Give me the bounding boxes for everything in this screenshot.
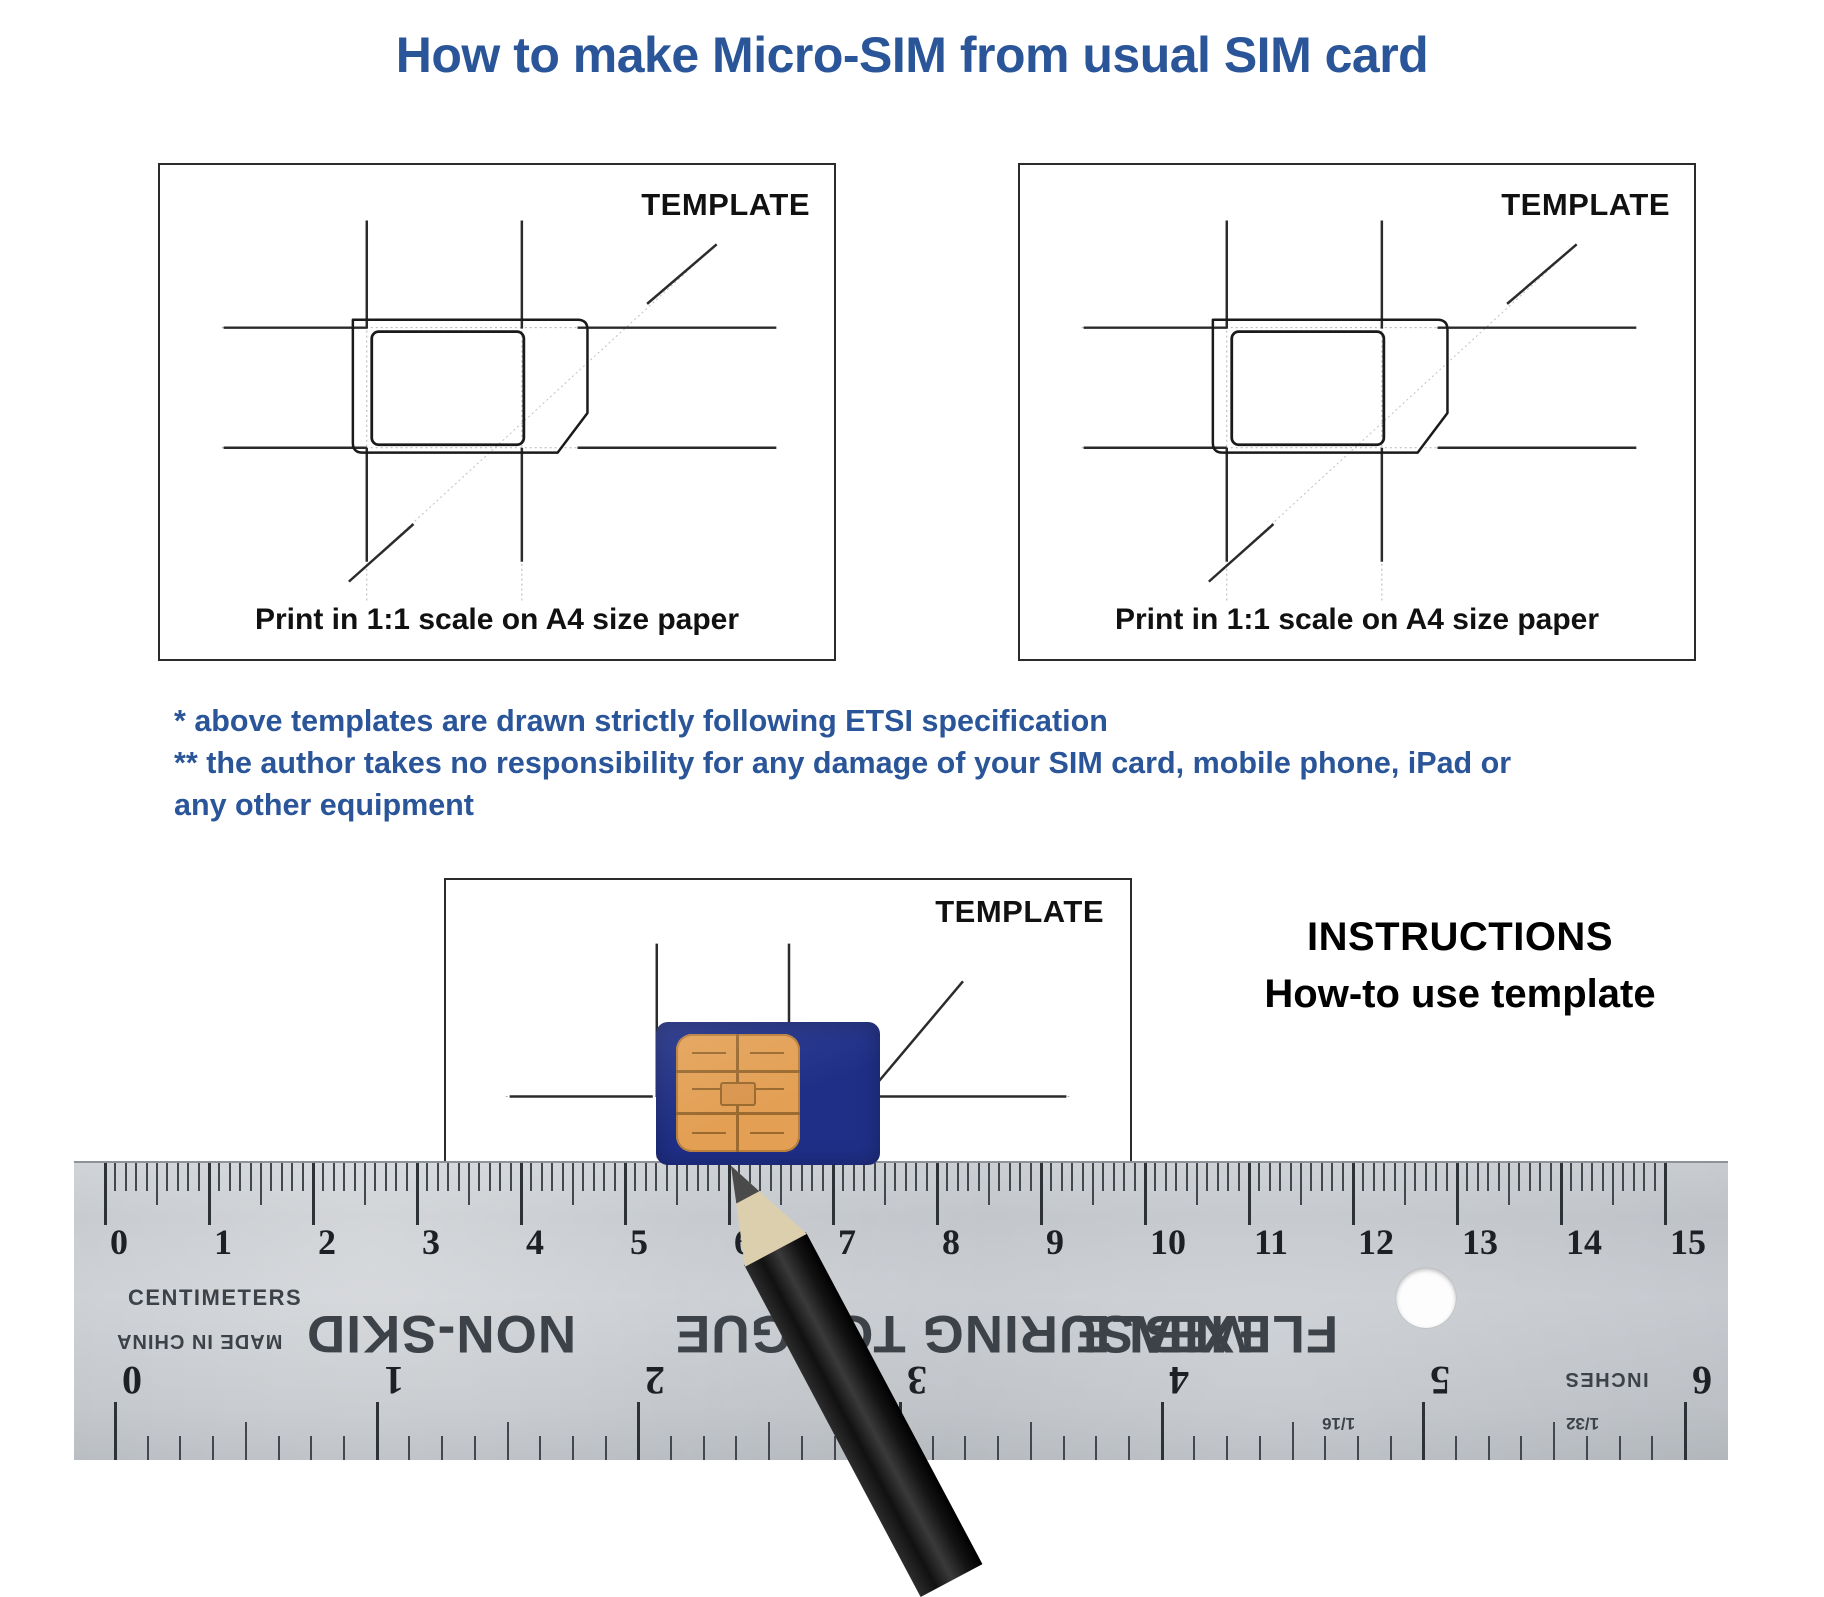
ruler-cm-tick-minor xyxy=(1279,1163,1281,1191)
template-label: TEMPLATE xyxy=(1501,187,1670,223)
ruler-inch-tick-minor xyxy=(735,1436,737,1460)
ruler-flexible-text: FLEXIBLE xyxy=(1074,1303,1338,1364)
ruler-cm-tick-minor xyxy=(1030,1163,1032,1191)
template-diagram-right xyxy=(1020,165,1694,659)
ruler-cm-tick-major xyxy=(1040,1163,1043,1225)
ruler-cm-tick-minor xyxy=(198,1163,200,1191)
ruler-inch-tick-major xyxy=(114,1402,117,1460)
ruler-cm-tick-minor xyxy=(1196,1163,1198,1205)
ruler-inch-label: 5 xyxy=(1430,1357,1450,1404)
ruler-inch-tick-minor xyxy=(474,1436,476,1460)
ruler-inch-tick-major xyxy=(376,1402,379,1460)
ruler-cm-tick-minor xyxy=(572,1163,574,1205)
template-label: TEMPLATE xyxy=(641,187,810,223)
ruler-inch-tick-minor xyxy=(703,1436,705,1460)
ruler-cm-tick-major xyxy=(1248,1163,1251,1225)
ruler-cm-tick-minor xyxy=(1414,1163,1416,1191)
ruler-cm-label: 5 xyxy=(630,1221,648,1263)
ruler-inch-tick-minor xyxy=(1455,1436,1457,1460)
ruler-cm-label: 7 xyxy=(838,1221,856,1263)
ruler-cm-tick-minor xyxy=(853,1163,855,1191)
ruler-inch-tick-minor xyxy=(964,1436,966,1460)
ruler-cm-tick-minor xyxy=(1290,1163,1292,1191)
ruler-inch-tick-minor xyxy=(605,1436,607,1460)
template-box-left: TEMPLATE Print in 1:1 scale on A4 size p… xyxy=(158,163,836,661)
ruler-cm-tick-minor xyxy=(260,1163,262,1205)
ruler-cm-label: 4 xyxy=(526,1221,544,1263)
ruler-inch-label: 6 xyxy=(1692,1357,1712,1404)
ruler-cm-tick-minor xyxy=(1404,1163,1406,1205)
ruler-cm-tick-minor xyxy=(603,1163,605,1191)
ruler-inch-label: 2 xyxy=(645,1357,665,1404)
ruler-cm-tick-major xyxy=(520,1163,523,1225)
ruler-cm-tick-minor xyxy=(1269,1163,1271,1191)
ruler-inch-tick-minor xyxy=(1619,1436,1621,1460)
instructions-subtitle: How-to use template xyxy=(1180,972,1740,1017)
ruler-cm-tick-minor xyxy=(1258,1163,1260,1191)
ruler-cm-tick-minor xyxy=(1050,1163,1052,1191)
ruler-inch-tick-minor xyxy=(245,1422,247,1460)
ruler-cm-tick-minor xyxy=(1394,1163,1396,1191)
ruler-cm-tick-minor xyxy=(1362,1163,1364,1191)
ruler-non-skid-text: NON-SKID xyxy=(306,1303,576,1364)
ruler-cm-tick-minor xyxy=(582,1163,584,1191)
ruler-cm-tick-minor xyxy=(1165,1163,1167,1191)
ruler-cm-tick-minor xyxy=(146,1163,148,1191)
ruler-inch-tick-major xyxy=(1684,1402,1687,1460)
ruler-cm-tick-minor xyxy=(1071,1163,1073,1191)
ruler-cm-tick-minor xyxy=(125,1163,127,1191)
ruler-cm-tick-minor xyxy=(1487,1163,1489,1191)
ruler-cm-tick-minor xyxy=(1622,1163,1624,1191)
ruler-cm-tick-minor xyxy=(988,1163,990,1205)
ruler-cm-label: 8 xyxy=(942,1221,960,1263)
ruler-cm-tick-minor xyxy=(790,1163,792,1191)
ruler-cm-label: 10 xyxy=(1150,1221,1186,1263)
note-line-1: * above templates are drawn strictly fol… xyxy=(174,700,1734,742)
ruler-cm-tick-minor xyxy=(1581,1163,1583,1191)
ruler-inch-tick-minor xyxy=(1651,1436,1653,1460)
ruler-inch-tick-minor xyxy=(278,1436,280,1460)
ruler-cm-tick-minor xyxy=(863,1163,865,1191)
ruler-cm-tick-minor xyxy=(697,1163,699,1191)
ruler-cm-tick-minor xyxy=(946,1163,948,1191)
ruler-inch-tick-minor xyxy=(1357,1436,1359,1460)
ruler-cm-tick-major xyxy=(416,1163,419,1225)
ruler-cm-tick-minor xyxy=(957,1163,959,1191)
ruler-cm-tick-minor xyxy=(1217,1163,1219,1191)
ruler-cm-tick-minor xyxy=(302,1163,304,1191)
ruler-cm-tick-minor xyxy=(1518,1163,1520,1191)
ruler-made-in-china-text: MADE IN CHINA xyxy=(116,1329,282,1352)
ruler-cm-tick-minor xyxy=(1206,1163,1208,1191)
ruler-inch-label: 3 xyxy=(907,1357,927,1404)
ruler-cm-tick-minor xyxy=(1009,1163,1011,1191)
template-label: TEMPLATE xyxy=(935,894,1104,930)
template-diagram-left xyxy=(160,165,834,659)
note-line-3: any other equipment xyxy=(174,784,1734,826)
ruler-cm-tick-minor xyxy=(229,1163,231,1191)
instructions-title: INSTRUCTIONS xyxy=(1180,915,1740,960)
ruler-cm-tick-minor xyxy=(499,1163,501,1191)
ruler-cm-tick-minor xyxy=(239,1163,241,1191)
ruler-cm-tick-minor xyxy=(1612,1163,1614,1205)
template-box-right: TEMPLATE Print in 1:1 scale on A4 size p… xyxy=(1018,163,1696,661)
ruler-inch-label: 1 xyxy=(384,1357,404,1404)
ruler-inch-tick-minor xyxy=(539,1436,541,1460)
ruler-inch-tick-minor xyxy=(834,1436,836,1460)
ruler-inch-tick-minor xyxy=(1586,1436,1588,1460)
ruler-cm-tick-minor xyxy=(1102,1163,1104,1191)
ruler-cm-tick-minor xyxy=(1654,1163,1656,1191)
page-title: How to make Micro-SIM from usual SIM car… xyxy=(0,26,1824,84)
ruler-cm-tick-major xyxy=(312,1163,315,1225)
ruler-cm-tick-minor xyxy=(1310,1163,1312,1191)
ruler-cm-tick-minor xyxy=(1466,1163,1468,1191)
ruler-cm-tick-minor xyxy=(1300,1163,1302,1205)
ruler-cm-label: 9 xyxy=(1046,1221,1064,1263)
ruler-cm-tick-minor xyxy=(1529,1163,1531,1191)
ruler-cm-tick-minor xyxy=(322,1163,324,1191)
ruler-cm-tick-minor xyxy=(333,1163,335,1191)
ruler-cm-tick-minor xyxy=(1019,1163,1021,1191)
ruler-cm-tick-minor xyxy=(218,1163,220,1191)
ruler-cm-tick-minor xyxy=(811,1163,813,1191)
ruler-inch-tick-major xyxy=(1161,1402,1164,1460)
ruler-cm-tick-minor xyxy=(374,1163,376,1191)
ruler-cm-tick-minor xyxy=(1508,1163,1510,1205)
sim-chip-icon xyxy=(676,1034,800,1152)
ruler-cm-tick-minor xyxy=(1061,1163,1063,1191)
ruler-cm-tick-minor xyxy=(614,1163,616,1191)
ruler-cm-label: 14 xyxy=(1566,1221,1602,1263)
ruler-cm-tick-major xyxy=(1664,1163,1667,1225)
ruler-cm-tick-major xyxy=(832,1163,835,1225)
ruler-cm-tick-minor xyxy=(447,1163,449,1191)
ruler-cm-tick-minor xyxy=(291,1163,293,1191)
ruler-cm-tick-minor xyxy=(510,1163,512,1191)
ruler-cm-tick-major xyxy=(104,1163,107,1225)
ruler-cm-tick-minor xyxy=(541,1163,543,1191)
ruler-inch-tick-minor xyxy=(1063,1436,1065,1460)
ruler-cm-tick-major xyxy=(1456,1163,1459,1225)
ruler-cm-tick-minor xyxy=(1539,1163,1541,1191)
ruler-cm-tick-minor xyxy=(1113,1163,1115,1191)
ruler-inch-tick-minor xyxy=(572,1436,574,1460)
ruler-cm-tick-minor xyxy=(998,1163,1000,1191)
ruler-inch-tick-minor xyxy=(147,1436,149,1460)
template-caption: Print in 1:1 scale on A4 size paper xyxy=(160,603,834,637)
ruler-cm-tick-minor xyxy=(489,1163,491,1191)
ruler-cm-tick-minor xyxy=(1498,1163,1500,1191)
ruler-inch-tick-minor xyxy=(1324,1436,1326,1460)
ruler-cm-tick-minor xyxy=(1435,1163,1437,1191)
ruler-cm-tick-minor xyxy=(801,1163,803,1191)
ruler-cm-tick-minor xyxy=(551,1163,553,1191)
ruler-cm-tick-minor xyxy=(593,1163,595,1191)
ruler-inches-text: INCHES xyxy=(1564,1367,1649,1390)
ruler-cm-tick-major xyxy=(1560,1163,1563,1225)
ruler-inch-tick-minor xyxy=(768,1422,770,1460)
ruler-inch-tick-minor xyxy=(670,1436,672,1460)
ruler-cm-label: 11 xyxy=(1254,1221,1288,1263)
ruler-centimeters-text: CENTIMETERS xyxy=(128,1285,302,1311)
ruler-cm-tick-minor xyxy=(1342,1163,1344,1191)
ruler-cm-tick-minor xyxy=(250,1163,252,1191)
ruler-cm-tick-minor xyxy=(1175,1163,1177,1191)
ruler-inch-tick-minor xyxy=(1553,1422,1555,1460)
ruler-inch-tick-minor xyxy=(179,1436,181,1460)
ruler-inch-tick-minor xyxy=(507,1422,509,1460)
ruler-cm-tick-minor xyxy=(926,1163,928,1191)
ruler-cm-tick-minor xyxy=(1134,1163,1136,1191)
ruler-hanging-hole xyxy=(1396,1268,1456,1328)
ruler-cm-tick-minor xyxy=(281,1163,283,1191)
ruler-cm-tick-minor xyxy=(874,1163,876,1191)
ruler-cm-tick-minor xyxy=(270,1163,272,1191)
ruler-cm-tick-minor xyxy=(1591,1163,1593,1191)
ruler-cm-tick-minor xyxy=(905,1163,907,1191)
ruler-cm-tick-minor xyxy=(1238,1163,1240,1191)
ruler-cm-tick-minor xyxy=(562,1163,564,1191)
ruler-cm-tick-minor xyxy=(1643,1163,1645,1191)
ruler-cm-tick-minor xyxy=(676,1163,678,1205)
ruler-inch-label: 0 xyxy=(122,1357,142,1404)
ruler-inch-tick-minor xyxy=(1030,1422,1032,1460)
ruler-cm-tick-minor xyxy=(978,1163,980,1191)
ruler-cm-tick-minor xyxy=(1123,1163,1125,1191)
ruler-cm-tick-minor xyxy=(478,1163,480,1191)
ruler-inch-tick-minor xyxy=(343,1436,345,1460)
ruler-cm-tick-minor xyxy=(967,1163,969,1191)
ruler-cm-tick-minor xyxy=(1373,1163,1375,1191)
ruler-cm-label: 3 xyxy=(422,1221,440,1263)
ruler-cm-tick-minor xyxy=(1446,1163,1448,1191)
ruler-inch-tick-minor xyxy=(932,1436,934,1460)
ruler-inch-tick-minor xyxy=(1390,1436,1392,1460)
ruler-inch-tick-minor xyxy=(1095,1436,1097,1460)
ruler-cm-label: 0 xyxy=(110,1221,128,1263)
ruler-cm-tick-minor xyxy=(343,1163,345,1191)
ruler-cm-tick-major xyxy=(1144,1163,1147,1225)
ruler-cm-label: 1 xyxy=(214,1221,232,1263)
ruler-inch-tick-major xyxy=(1422,1402,1425,1460)
ruler-inch-tick-minor xyxy=(801,1436,803,1460)
ruler-cm-tick-minor xyxy=(187,1163,189,1191)
ruler-cm-tick-minor xyxy=(468,1163,470,1205)
ruler-cm-tick-minor xyxy=(686,1163,688,1191)
ruler-cm-tick-major xyxy=(624,1163,627,1225)
ruler-cm-tick-minor xyxy=(406,1163,408,1191)
ruler-cm-tick-minor xyxy=(458,1163,460,1191)
ruler-inch-tick-minor xyxy=(1292,1422,1294,1460)
ruler-cm-tick-minor xyxy=(1186,1163,1188,1191)
ruler-inch-tick-minor xyxy=(441,1436,443,1460)
ruler-cm-tick-minor xyxy=(822,1163,824,1191)
ruler-cm-tick-minor xyxy=(177,1163,179,1191)
ruler-inch-tick-minor xyxy=(1226,1436,1228,1460)
ruler-cm-tick-minor xyxy=(1092,1163,1094,1205)
ruler-inch-tick-minor xyxy=(1193,1436,1195,1460)
ruler-cm-tick-minor xyxy=(156,1163,158,1205)
ruler-cm-tick-minor xyxy=(666,1163,668,1191)
ruler-cm-tick-major xyxy=(1352,1163,1355,1225)
ruler-cm-tick-minor xyxy=(1633,1163,1635,1191)
ruler-cm-tick-minor xyxy=(1550,1163,1552,1191)
note-line-2: ** the author takes no responsibility fo… xyxy=(174,742,1734,784)
ruler-cm-tick-minor xyxy=(884,1163,886,1205)
ruler-cm-label: 2 xyxy=(318,1221,336,1263)
ruler-inch-tick-minor xyxy=(1488,1436,1490,1460)
ruler-cm-tick-minor xyxy=(1331,1163,1333,1191)
ruler-cm-label: 13 xyxy=(1462,1221,1498,1263)
ruler-cm-tick-major xyxy=(208,1163,211,1225)
ruler-inch-tick-minor xyxy=(310,1436,312,1460)
notes-block: * above templates are drawn strictly fol… xyxy=(174,700,1734,826)
ruler-cm-tick-minor xyxy=(1383,1163,1385,1191)
ruler-cm-tick-minor xyxy=(385,1163,387,1191)
ruler-cm-tick-minor xyxy=(894,1163,896,1191)
ruler-inch-label: 4 xyxy=(1169,1357,1189,1404)
ruler-inch-tick-minor xyxy=(1259,1436,1261,1460)
sim-card-image xyxy=(656,1022,880,1165)
ruler-cm-tick-minor xyxy=(1321,1163,1323,1191)
ruler-cm-tick-minor xyxy=(1425,1163,1427,1191)
ruler-cm-tick-major xyxy=(936,1163,939,1225)
ruler-inch-tick-minor xyxy=(212,1436,214,1460)
ruler-cm-tick-minor xyxy=(634,1163,636,1191)
ruler-cm-label: 15 xyxy=(1670,1221,1706,1263)
ruler-cm-tick-minor xyxy=(1570,1163,1572,1191)
ruler-cm-tick-minor xyxy=(354,1163,356,1191)
ruler-cm-tick-minor xyxy=(1154,1163,1156,1191)
instructions-block: INSTRUCTIONS How-to use template xyxy=(1180,915,1740,1017)
template-caption: Print in 1:1 scale on A4 size paper xyxy=(1020,603,1694,637)
ruler-fraction-1-16-text: 1/16 xyxy=(1322,1413,1355,1433)
ruler-inch-tick-minor xyxy=(1128,1436,1130,1460)
ruler-cm-tick-minor xyxy=(1227,1163,1229,1191)
ruler-inch-tick-minor xyxy=(997,1436,999,1460)
ruler-cm-tick-minor xyxy=(135,1163,137,1191)
ruler-inch-tick-minor xyxy=(1520,1436,1522,1460)
ruler-cm-tick-minor xyxy=(1082,1163,1084,1191)
ruler-cm-tick-minor xyxy=(437,1163,439,1191)
ruler-cm-tick-minor xyxy=(645,1163,647,1191)
ruler-inch-tick-major xyxy=(637,1402,640,1460)
ruler-cm-tick-minor xyxy=(166,1163,168,1191)
ruler-cm-tick-minor xyxy=(426,1163,428,1191)
ruler-cm-tick-minor xyxy=(395,1163,397,1191)
ruler-fraction-1-32-text: 1/32 xyxy=(1566,1413,1599,1433)
ruler-cm-tick-minor xyxy=(364,1163,366,1205)
ruler-cm-tick-minor xyxy=(114,1163,116,1191)
ruler-cm-tick-minor xyxy=(1602,1163,1604,1191)
ruler-cm-label: 12 xyxy=(1358,1221,1394,1263)
ruler-cm-tick-minor xyxy=(842,1163,844,1191)
ruler-cm-tick-minor xyxy=(1477,1163,1479,1191)
ruler-inch-tick-minor xyxy=(408,1436,410,1460)
ruler-cm-tick-minor xyxy=(915,1163,917,1191)
ruler-cm-tick-minor xyxy=(655,1163,657,1191)
ruler-cm-tick-minor xyxy=(530,1163,532,1191)
